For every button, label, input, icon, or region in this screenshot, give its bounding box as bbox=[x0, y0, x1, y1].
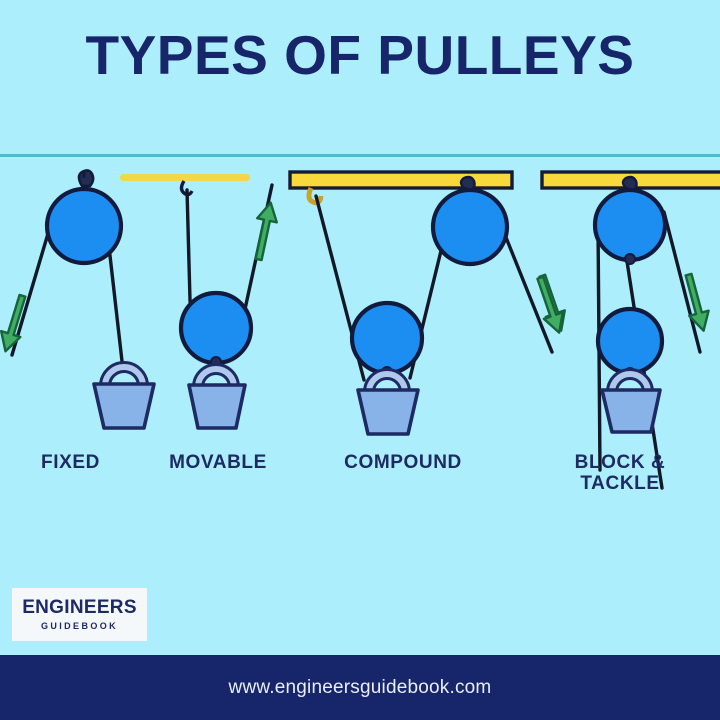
bucket-fixed bbox=[94, 384, 154, 428]
brand-logo: ENGINEERS GUIDEBOOK bbox=[12, 588, 147, 641]
bucket-compound bbox=[358, 390, 418, 434]
footer-bar: www.engineersguidebook.com bbox=[0, 655, 720, 720]
pulley-wheel-movable bbox=[181, 293, 251, 363]
diagram-label-block-tackle-line1: BLOCK & bbox=[575, 452, 666, 473]
diagram-fixed bbox=[0, 170, 154, 428]
pulley-swivel-block-tackle-upper bbox=[625, 254, 635, 264]
diagram-label-block-tackle: BLOCK & TACKLE bbox=[530, 452, 710, 495]
poster-canvas: TYPES OF PULLEYS bbox=[0, 0, 720, 720]
pulley-wheel-fixed bbox=[47, 189, 121, 263]
bucket-block-tackle bbox=[602, 390, 660, 432]
pulley-wheel-compound-movable bbox=[352, 303, 422, 373]
diagram-compound bbox=[290, 172, 571, 434]
diagram-block-tackle bbox=[531, 172, 720, 488]
support-beam-movable bbox=[120, 174, 250, 181]
diagram-label-compound: COMPOUND bbox=[318, 452, 488, 473]
diagram-label-fixed: FIXED bbox=[8, 452, 133, 473]
diagram-label-movable: MOVABLE bbox=[148, 452, 288, 473]
logo-primary-text: ENGINEERS bbox=[22, 598, 137, 617]
logo-secondary-text: GUIDEBOOK bbox=[41, 622, 118, 631]
effort-arrow-movable bbox=[249, 201, 281, 262]
pulley-wheel-block-tackle-upper bbox=[595, 190, 665, 260]
pulley-wheel-block-tackle-lower bbox=[598, 309, 662, 373]
diagram-label-block-tackle-line2: TACKLE bbox=[580, 473, 659, 494]
pulley-wheel-compound-fixed bbox=[433, 190, 507, 264]
effort-arrow-block-tackle-right bbox=[679, 272, 713, 333]
ceiling-hook-icon bbox=[79, 170, 93, 186]
footer-website-url: www.engineersguidebook.com bbox=[229, 677, 492, 699]
support-beam-compound bbox=[290, 172, 512, 188]
bucket-movable bbox=[189, 385, 245, 428]
